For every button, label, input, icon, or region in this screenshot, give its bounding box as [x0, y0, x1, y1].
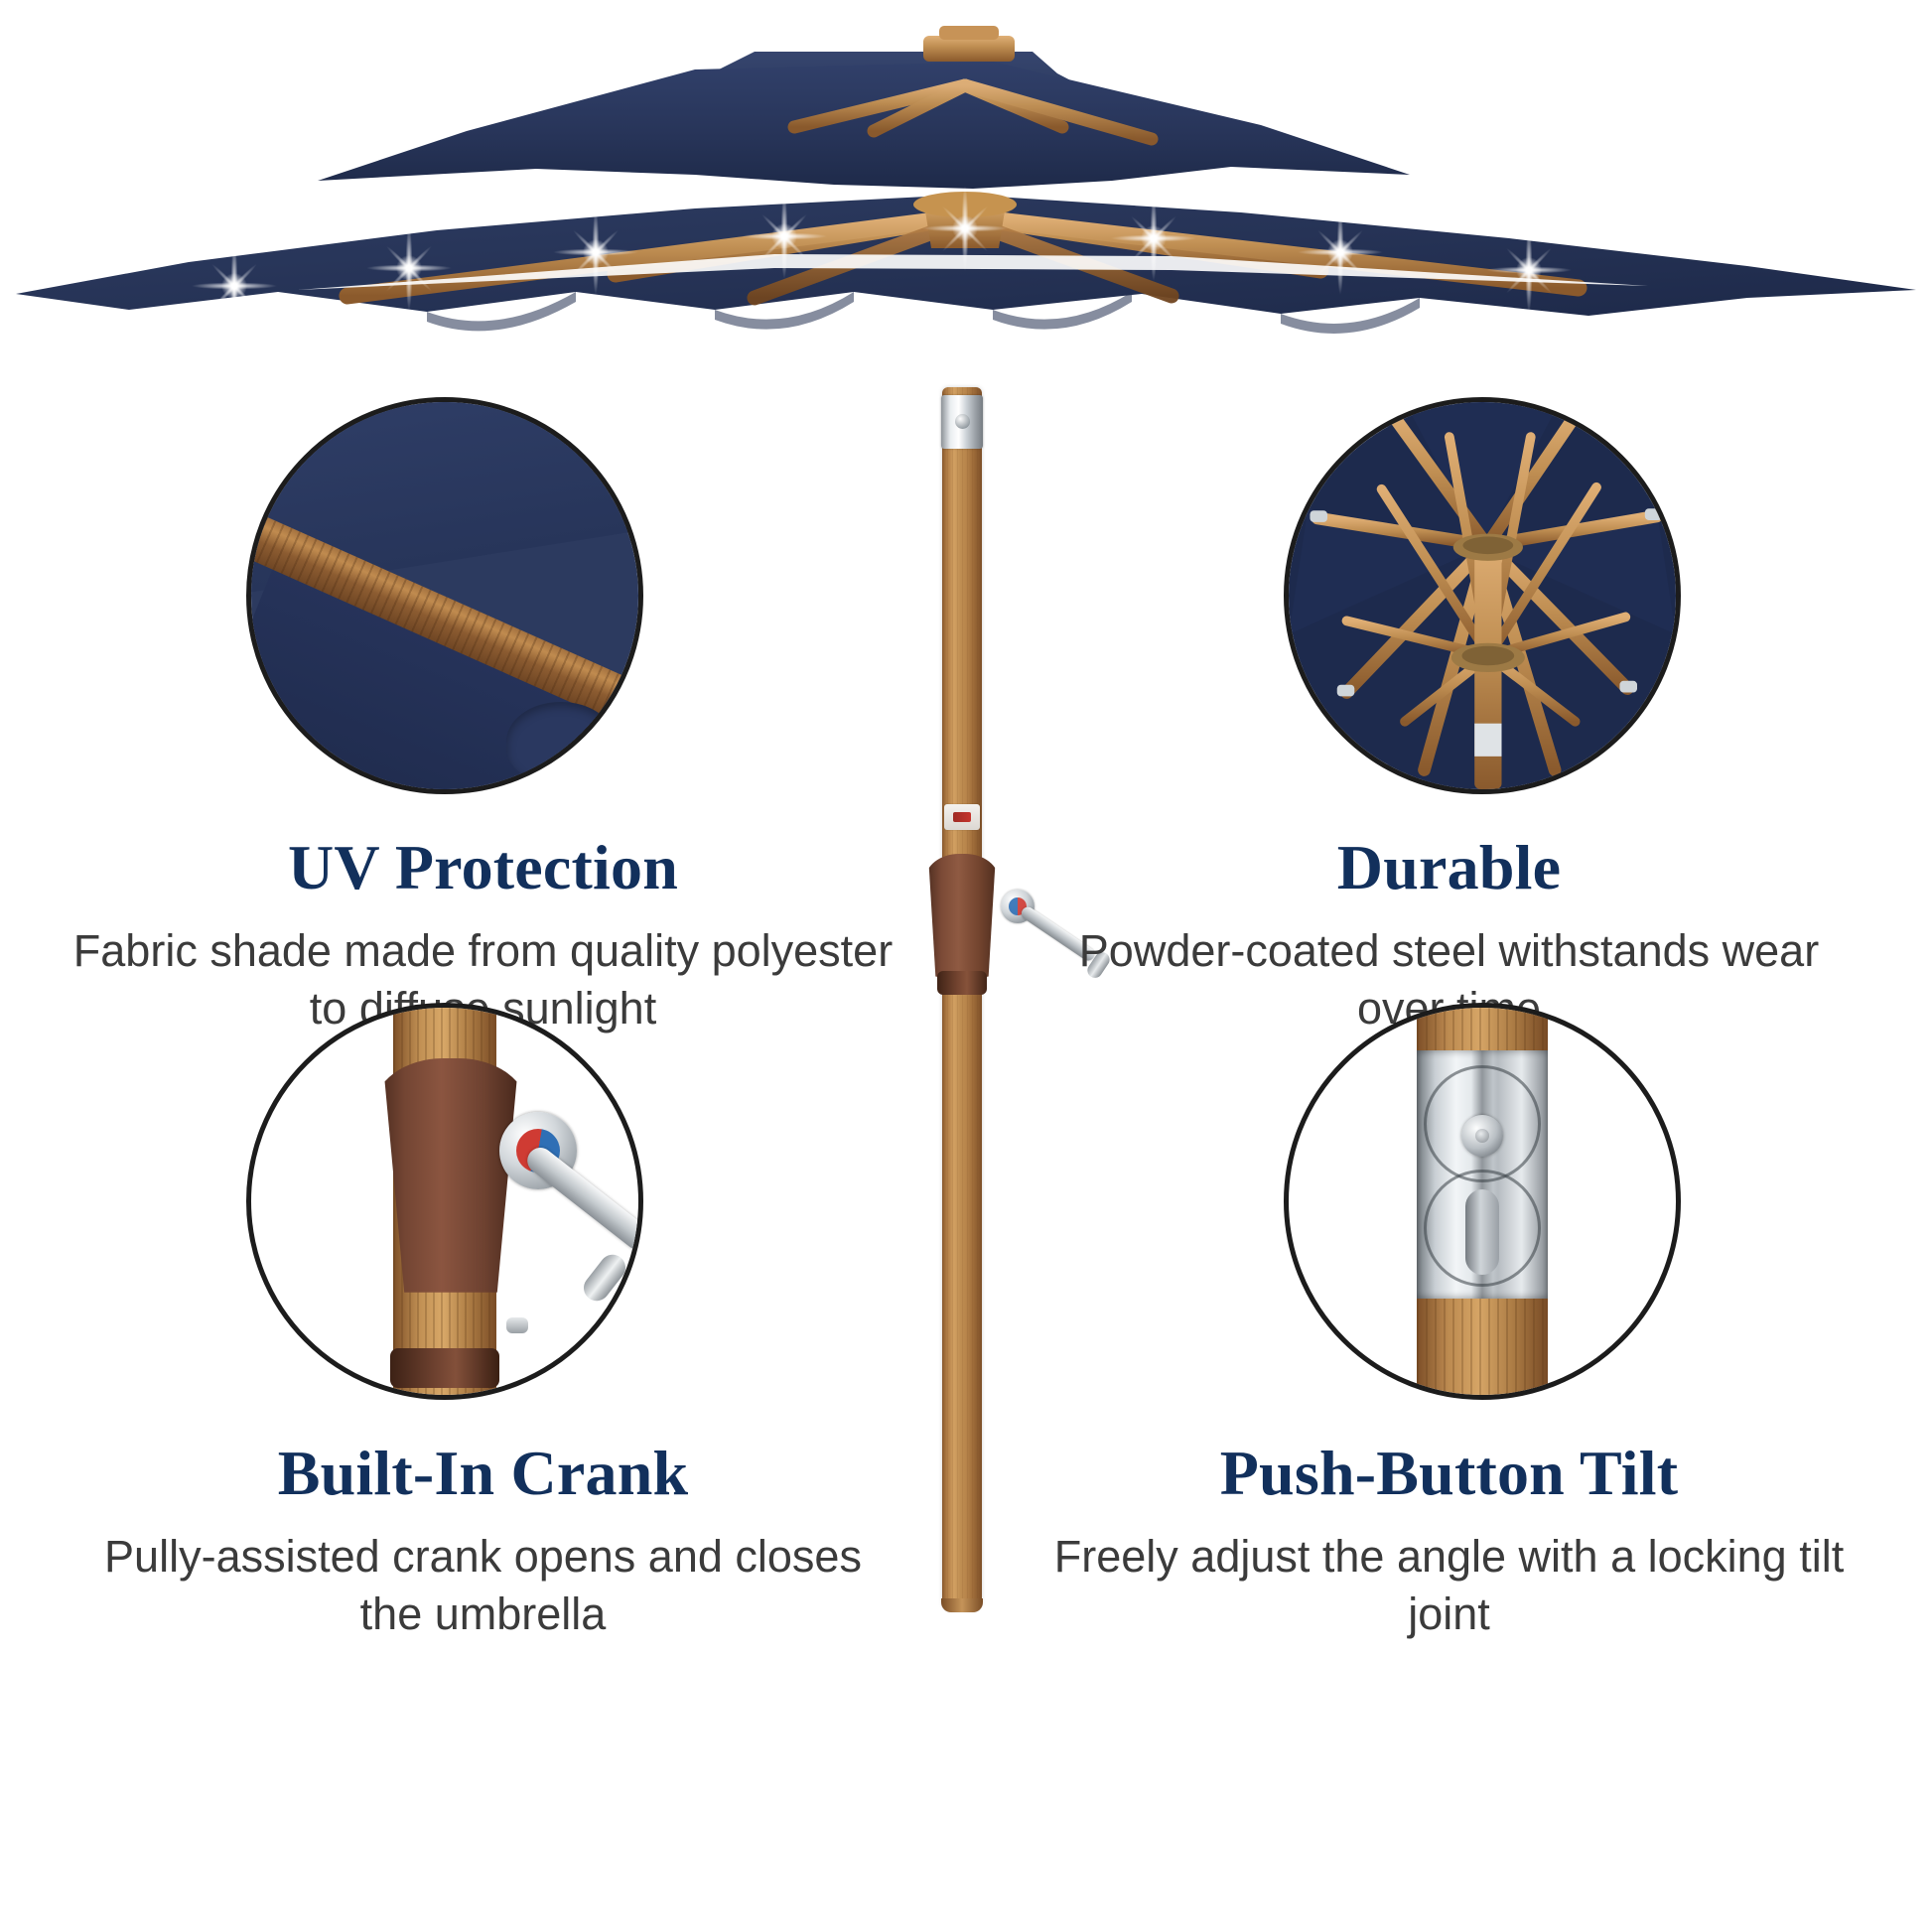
feature-title: Durable [966, 834, 1932, 900]
feature-push-button-tilt: Push-Button Tilt Freely adjust the angle… [966, 1003, 1932, 1642]
feature-uv-protection: UV Protection Fabric shade made from qua… [0, 397, 966, 1036]
umbrella-underside-ribs-icon [1284, 397, 1681, 794]
feature-description: Pully-assisted crank opens and closes th… [0, 1528, 966, 1642]
crank-handle-closeup-icon [246, 1003, 643, 1400]
tilt-joint-closeup-icon [1284, 1003, 1681, 1400]
tilt-push-button-icon [1461, 1115, 1503, 1157]
feature-description: Freely adjust the angle with a locking t… [966, 1528, 1932, 1642]
fabric-rib-closeup-icon [246, 397, 643, 794]
feature-durable: Durable Powder-coated steel withstands w… [966, 397, 1932, 1036]
feature-built-in-crank: Built-In Crank Pully-assisted crank open… [0, 1003, 966, 1642]
feature-title: Push-Button Tilt [966, 1440, 1932, 1506]
feature-title: Built-In Crank [0, 1440, 966, 1506]
infographic-canvas: UV Protection Fabric shade made from qua… [0, 0, 1932, 1932]
rib-structure-illustration [1289, 402, 1676, 789]
feature-title: UV Protection [0, 834, 966, 900]
